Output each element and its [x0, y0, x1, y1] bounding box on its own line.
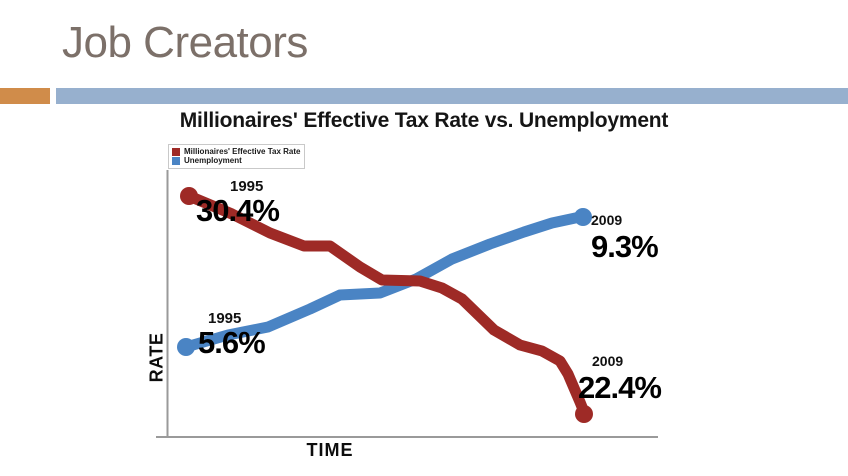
annotation-tax-rate-2009: 2009 22.4%	[578, 353, 661, 404]
annotation-value: 22.4%	[578, 372, 661, 404]
annotation-tax-rate-1995: 1995 30.4%	[196, 178, 279, 227]
accent-bar-blue	[56, 88, 848, 104]
annotation-year: 2009	[592, 353, 661, 369]
chart-container: Millionaires' Effective Tax Rate vs. Une…	[0, 104, 848, 476]
annotation-unemployment-1995: 1995 5.6%	[198, 310, 265, 359]
annotation-year: 2009	[591, 212, 658, 228]
series-endpoint-unemployment-end	[574, 208, 592, 226]
annotation-value: 5.6%	[198, 327, 265, 359]
accent-bar-orange	[0, 88, 50, 104]
page-title: Job Creators	[62, 20, 308, 66]
annotation-unemployment-2009: 2009 9.3%	[591, 212, 658, 263]
series-endpoint-tax-rate-end	[575, 405, 593, 423]
x-axis-title: TIME	[0, 440, 660, 461]
y-axis-title: RATE	[146, 333, 167, 383]
annotation-value: 30.4%	[196, 195, 279, 227]
series-endpoint-unemployment-start	[177, 338, 195, 356]
annotation-value: 9.3%	[591, 231, 658, 263]
plot-svg	[0, 104, 848, 476]
